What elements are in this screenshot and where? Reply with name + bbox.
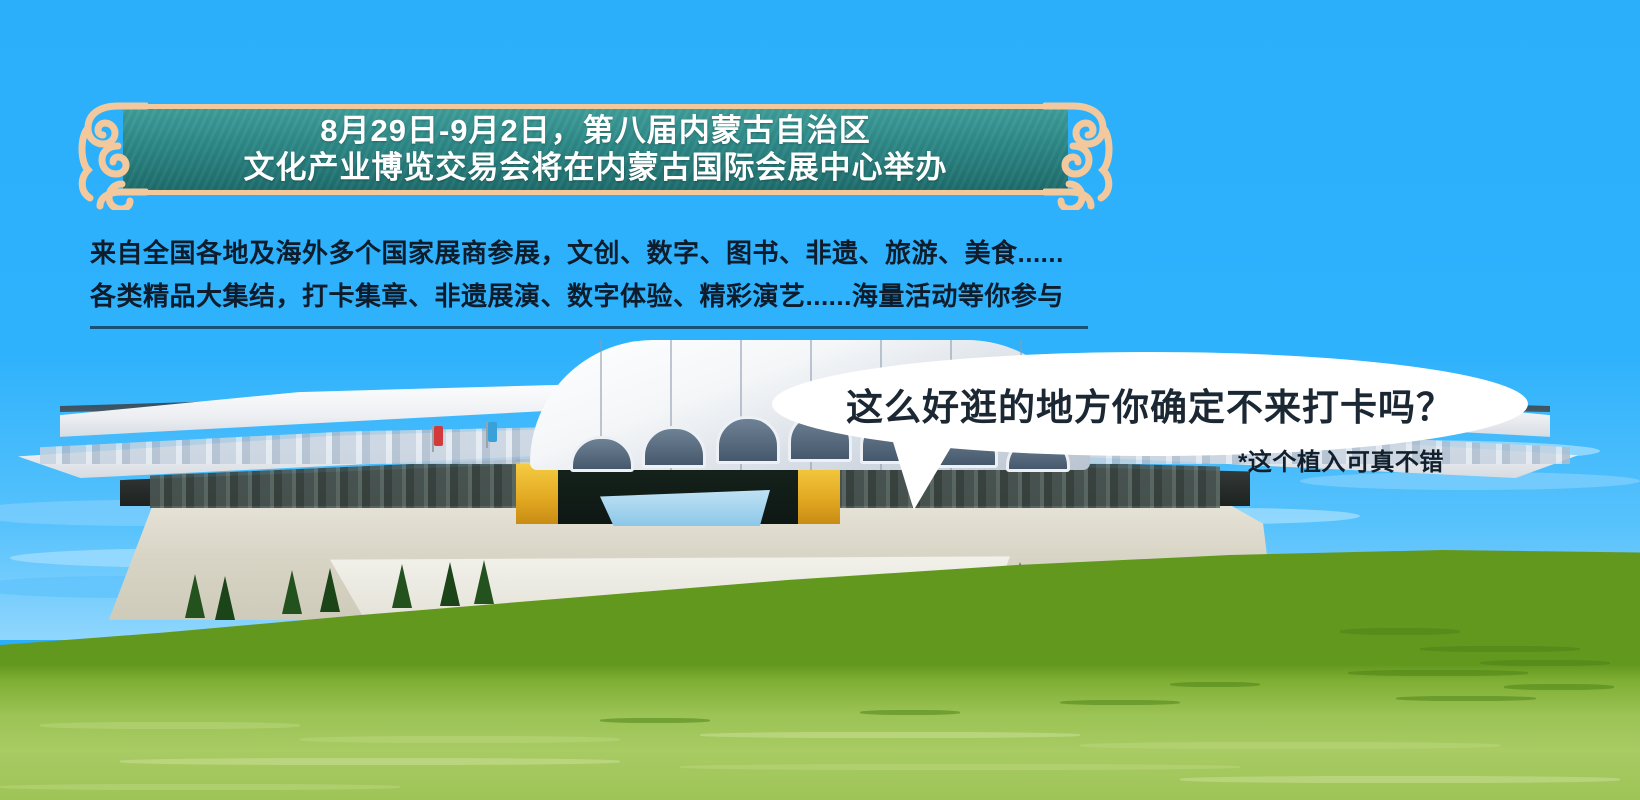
gold-pillar-left (516, 462, 558, 524)
footnote-text: *这个植入可真不错 (1238, 442, 1444, 477)
speech-bubble-text: 这么好逛的地方你确定不来打卡吗？ (772, 352, 1528, 456)
grass-streak (1504, 684, 1614, 690)
flag (434, 426, 443, 446)
tree (320, 568, 340, 612)
grass-streak (1170, 682, 1260, 687)
tree (392, 564, 412, 608)
grass-streak (40, 722, 300, 729)
mongolian-scroll-ornament-right-icon (1043, 88, 1113, 210)
tree (474, 560, 494, 604)
grass-streak (1348, 670, 1528, 676)
grass-streak (680, 764, 1240, 770)
speech-bubble: 这么好逛的地方你确定不来打卡吗？ (772, 352, 1528, 502)
banner-title-line2: 文化产业博览交易会将在内蒙古国际会展中心举办 (244, 150, 948, 187)
grass-streak (1340, 628, 1460, 635)
body-copy: 来自全国各地及海外多个国家展商参展，文创、数字、图书、非遗、旅游、美食.....… (90, 232, 1100, 318)
title-banner: 8月29日-9月2日，第八届内蒙古自治区 文化产业博览交易会将在内蒙古国际会展中… (78, 88, 1113, 210)
dome-window (716, 416, 780, 464)
poster-canvas: 8月29日-9月2日，第八届内蒙古自治区 文化产业博览交易会将在内蒙古国际会展中… (0, 0, 1640, 800)
grass-streak (700, 732, 1080, 738)
grass-streak (1060, 700, 1180, 705)
grass-streak (1396, 696, 1536, 701)
grass-streak (1080, 742, 1500, 749)
flag (488, 422, 497, 442)
grass-streak (1180, 776, 1620, 783)
horizontal-divider (90, 326, 1088, 329)
tree (215, 576, 235, 620)
grass-streak (120, 758, 620, 765)
grass-streak (300, 736, 620, 743)
dome-window (642, 426, 706, 468)
grass-streak (600, 718, 710, 723)
banner-title-block: 8月29日-9月2日，第八届内蒙古自治区 文化产业博览交易会将在内蒙古国际会展中… (138, 106, 1053, 194)
body-copy-line2: 各类精品大集结，打卡集章、非遗展演、数字体验、精彩演艺......海量活动等你参… (90, 275, 1100, 318)
dome-window (570, 436, 634, 472)
banner-title-line1: 8月29日-9月2日，第八届内蒙古自治区 (320, 113, 871, 150)
grass-streak (1420, 646, 1580, 652)
tree (185, 574, 205, 618)
grass-streak (860, 710, 960, 715)
grass-streak (0, 784, 400, 790)
tree (440, 562, 460, 606)
grass-streak (1480, 660, 1610, 666)
body-copy-line1: 来自全国各地及海外多个国家展商参展，文创、数字、图书、非遗、旅游、美食.....… (90, 232, 1100, 275)
tree (282, 570, 302, 614)
